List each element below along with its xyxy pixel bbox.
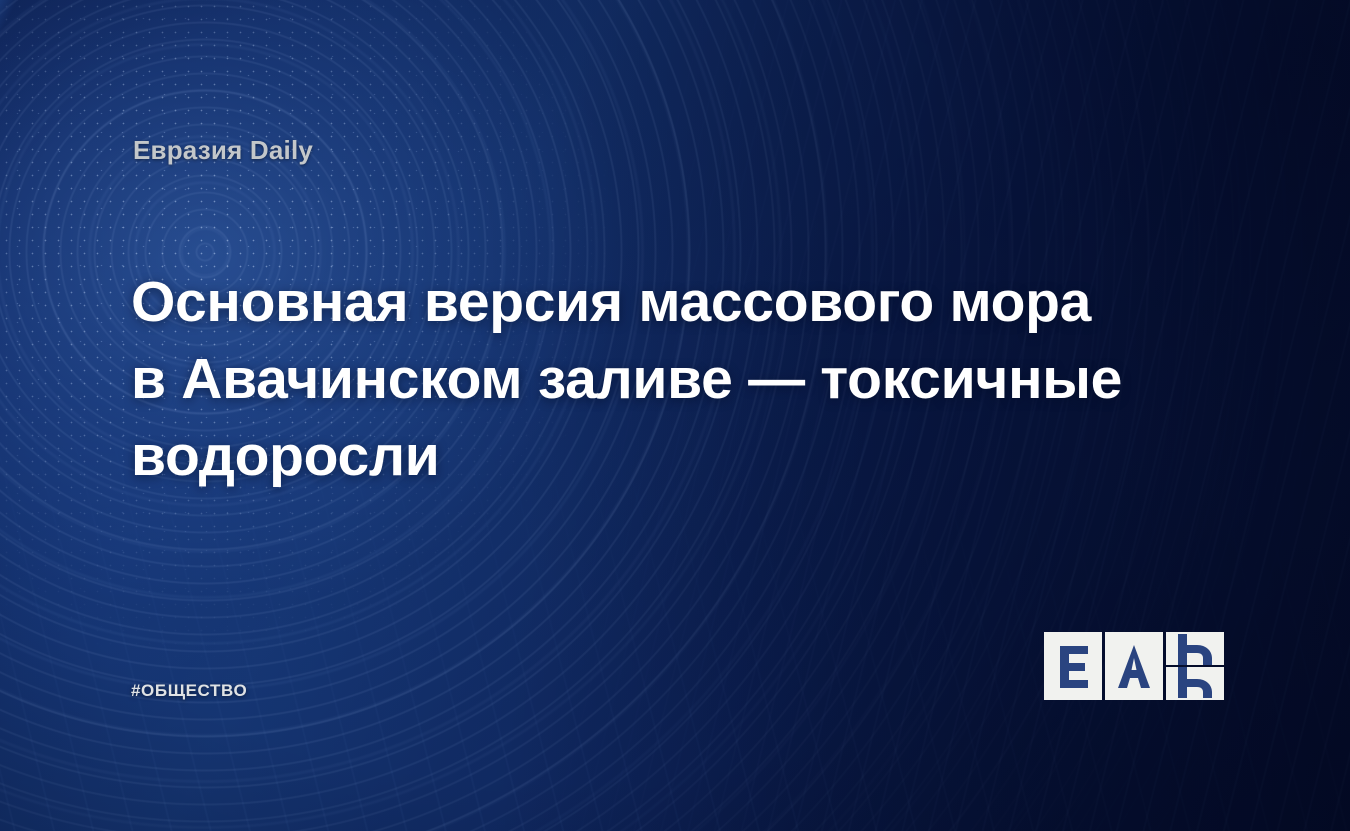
card-content: Евразия Daily Основная версия массового … xyxy=(0,0,1350,831)
category-tag[interactable]: #ОБЩЕСТВО xyxy=(131,681,247,701)
page-title: Основная версия массового мора в Авачинс… xyxy=(131,264,1131,495)
ead-logo-tile-a xyxy=(1105,632,1163,700)
headline-line-2: в Авачинском заливе — токсичные xyxy=(131,341,1131,418)
ead-logo-tile-d-top xyxy=(1166,632,1224,665)
headline-line-3: водоросли xyxy=(131,418,1131,495)
ead-logo-tile-d-bottom xyxy=(1166,667,1224,700)
brand-name: Евразия Daily xyxy=(133,135,313,166)
headline-line-1: Основная версия массового мора xyxy=(131,264,1131,341)
ead-logo-tile-d xyxy=(1166,632,1224,700)
ead-logo[interactable]: EAD xyxy=(1044,632,1224,702)
social-share-card: Евразия Daily Основная версия массового … xyxy=(0,0,1350,831)
ead-logo-tile-e xyxy=(1044,632,1102,700)
